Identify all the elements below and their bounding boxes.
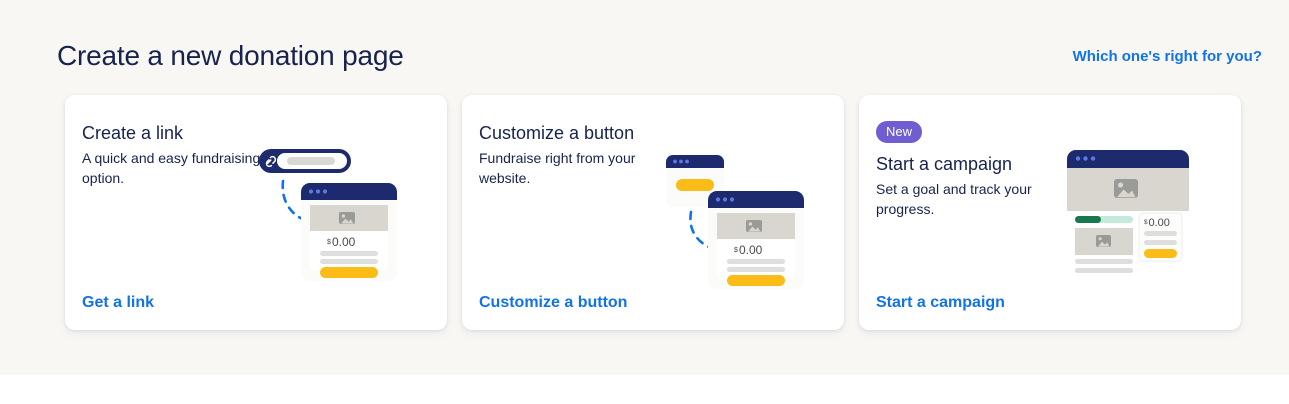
card-text-block: Customize a button Fundraise right from … <box>479 121 664 188</box>
card-title: Customize a button <box>479 121 664 145</box>
page-header: Create a new donation page Which one's r… <box>57 36 1262 76</box>
link-pill-icon <box>259 149 351 173</box>
amount-currency-symbol: $ <box>327 239 331 246</box>
image-placeholder-icon <box>746 220 762 232</box>
browser-window-mock: $ 0.00 <box>1067 150 1189 278</box>
card-title: Create a link <box>82 121 267 145</box>
amount-currency-symbol: $ <box>734 247 738 254</box>
amount-value: 0.00 <box>332 235 356 249</box>
card-action-link-get-a-link[interactable]: Get a link <box>82 294 154 312</box>
card-text-block: Create a link A quick and easy fundraisi… <box>82 121 267 188</box>
amount-currency-symbol: $ <box>1144 219 1148 226</box>
card-description: Fundraise right from your website. <box>479 148 664 188</box>
amount-value: 0.00 <box>739 243 763 257</box>
card-action-link-customize-a-button[interactable]: Customize a button <box>479 294 627 312</box>
illustration-campaign-page: $ 0.00 <box>1051 95 1241 330</box>
card-title: Start a campaign <box>876 152 1061 176</box>
card-description: A quick and easy fundraising option. <box>82 148 267 188</box>
donation-widget-mock: $ 0.00 <box>1139 213 1182 261</box>
illustration-button-to-donation-page: $ 0.00 <box>654 95 844 330</box>
browser-window-mock: $ 0.00 <box>301 183 397 281</box>
amount-value: 0.00 <box>1149 217 1170 229</box>
page-title: Create a new donation page <box>57 36 404 76</box>
donate-button-mock <box>676 179 714 191</box>
card-action-link-start-a-campaign[interactable]: Start a campaign <box>876 294 1005 312</box>
goal-progress-bar <box>1075 216 1133 223</box>
image-placeholder-icon <box>339 212 355 224</box>
card-text-block: New Start a campaign Set a goal and trac… <box>876 121 1061 219</box>
which-one-is-right-link[interactable]: Which one's right for you? <box>1073 48 1262 65</box>
donation-page-chooser: Create a new donation page Which one's r… <box>0 0 1289 404</box>
image-placeholder-icon <box>1114 179 1138 198</box>
card-description: Set a goal and track your progress. <box>876 179 1061 219</box>
option-card-list: Create a link A quick and easy fundraisi… <box>65 95 1241 330</box>
image-placeholder-icon <box>1096 235 1111 247</box>
option-card-start-a-campaign[interactable]: New Start a campaign Set a goal and trac… <box>859 95 1241 330</box>
browser-window-mock: $ 0.00 <box>708 191 804 289</box>
status-badge-new: New <box>876 121 922 143</box>
illustration-link-to-donation-page: $ 0.00 <box>257 95 447 330</box>
option-card-customize-a-button[interactable]: Customize a button Fundraise right from … <box>462 95 844 330</box>
option-card-create-a-link[interactable]: Create a link A quick and easy fundraisi… <box>65 95 447 330</box>
